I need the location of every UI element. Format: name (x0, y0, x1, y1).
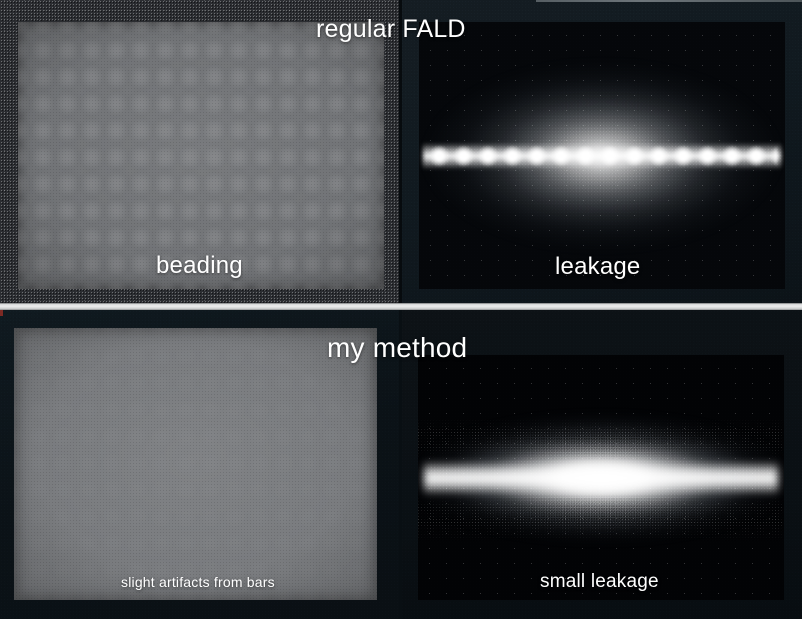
panel-vignette (14, 328, 377, 600)
title-my-method: my method (327, 332, 467, 364)
display-surface-beading (18, 22, 384, 289)
caption-beading: beading (156, 252, 243, 280)
sensor-speckle (419, 22, 785, 289)
panel-vignette (18, 22, 384, 289)
display-surface-small-leakage (418, 355, 784, 600)
caption-small-leakage: small leakage (540, 571, 659, 593)
display-surface-leakage (419, 22, 785, 289)
divider-red-tick (0, 310, 3, 316)
sensor-speckle (418, 355, 784, 600)
title-regular-fald: regular FALD (316, 15, 466, 44)
top-edge-highlight (536, 0, 802, 2)
divider-horizontal (0, 303, 802, 310)
divider-vertical-top (399, 0, 402, 303)
comparison-figure: regular FALD beading leakage my method s… (0, 0, 802, 619)
display-surface-uniform (14, 328, 377, 600)
caption-leakage: leakage (555, 253, 640, 281)
caption-slight-artifacts-from-bars: slight artifacts from bars (121, 574, 275, 590)
